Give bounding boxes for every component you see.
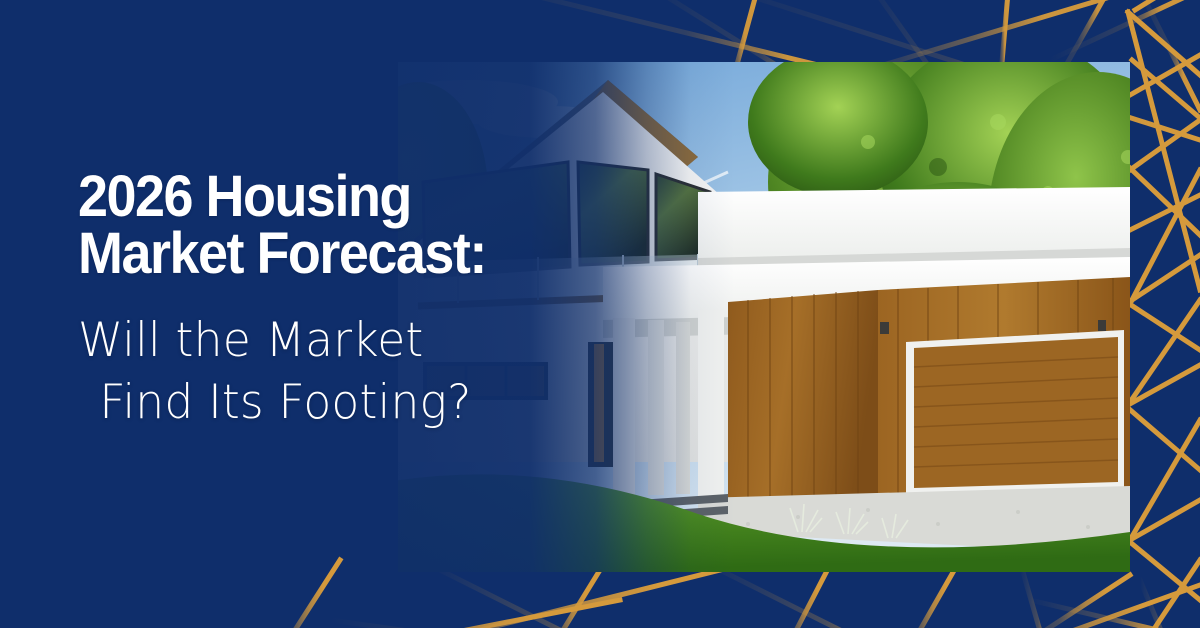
page-title: 2026 Housing Market Forecast:	[78, 168, 655, 282]
page-subtitle: Will the Market Find Its Footing?	[78, 310, 679, 434]
headline-line-2: Market Forecast:	[78, 225, 655, 282]
marketing-banner: 2026 Housing Market Forecast: Will the M…	[0, 0, 1200, 628]
subhead-line-2: Find Its Footing?	[78, 372, 679, 434]
subhead-line-1: Will the Market	[78, 310, 679, 372]
headline-block: 2026 Housing Market Forecast: Will the M…	[78, 168, 698, 434]
headline-line-1: 2026 Housing	[78, 168, 655, 225]
